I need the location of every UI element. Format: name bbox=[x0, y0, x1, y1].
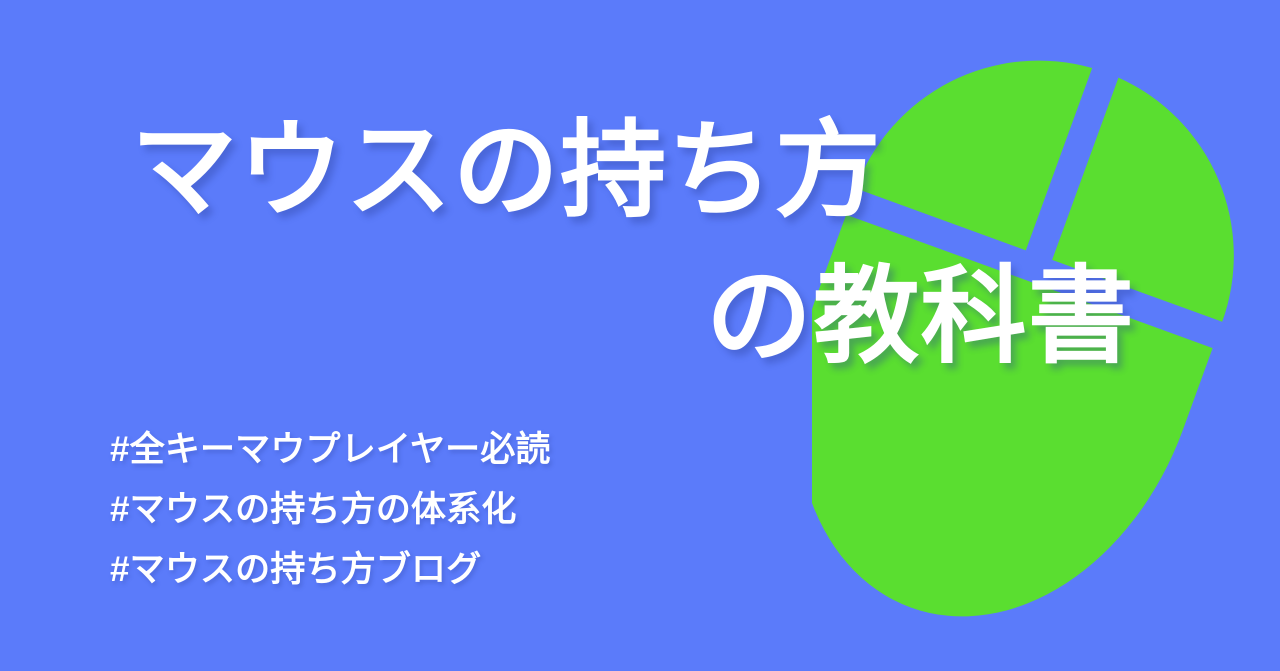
title-line-secondary: の教科書 bbox=[706, 264, 1135, 370]
hashtag-item: #マウスの持ち方の体系化 bbox=[110, 492, 551, 527]
hashtag-item: #マウスの持ち方ブログ bbox=[110, 552, 551, 587]
hashtag-list: #全キーマウプレイヤー必読 #マウスの持ち方の体系化 #マウスの持ち方ブログ bbox=[110, 432, 551, 587]
hashtag-item: #全キーマウプレイヤー必読 bbox=[110, 432, 551, 467]
banner-root: マウスの持ち方 の教科書 #全キーマウプレイヤー必読 #マウスの持ち方の体系化 … bbox=[0, 0, 1280, 671]
title-line-primary: マウスの持ち方 bbox=[131, 118, 882, 224]
mouse-left-button-shape bbox=[856, 38, 1092, 250]
